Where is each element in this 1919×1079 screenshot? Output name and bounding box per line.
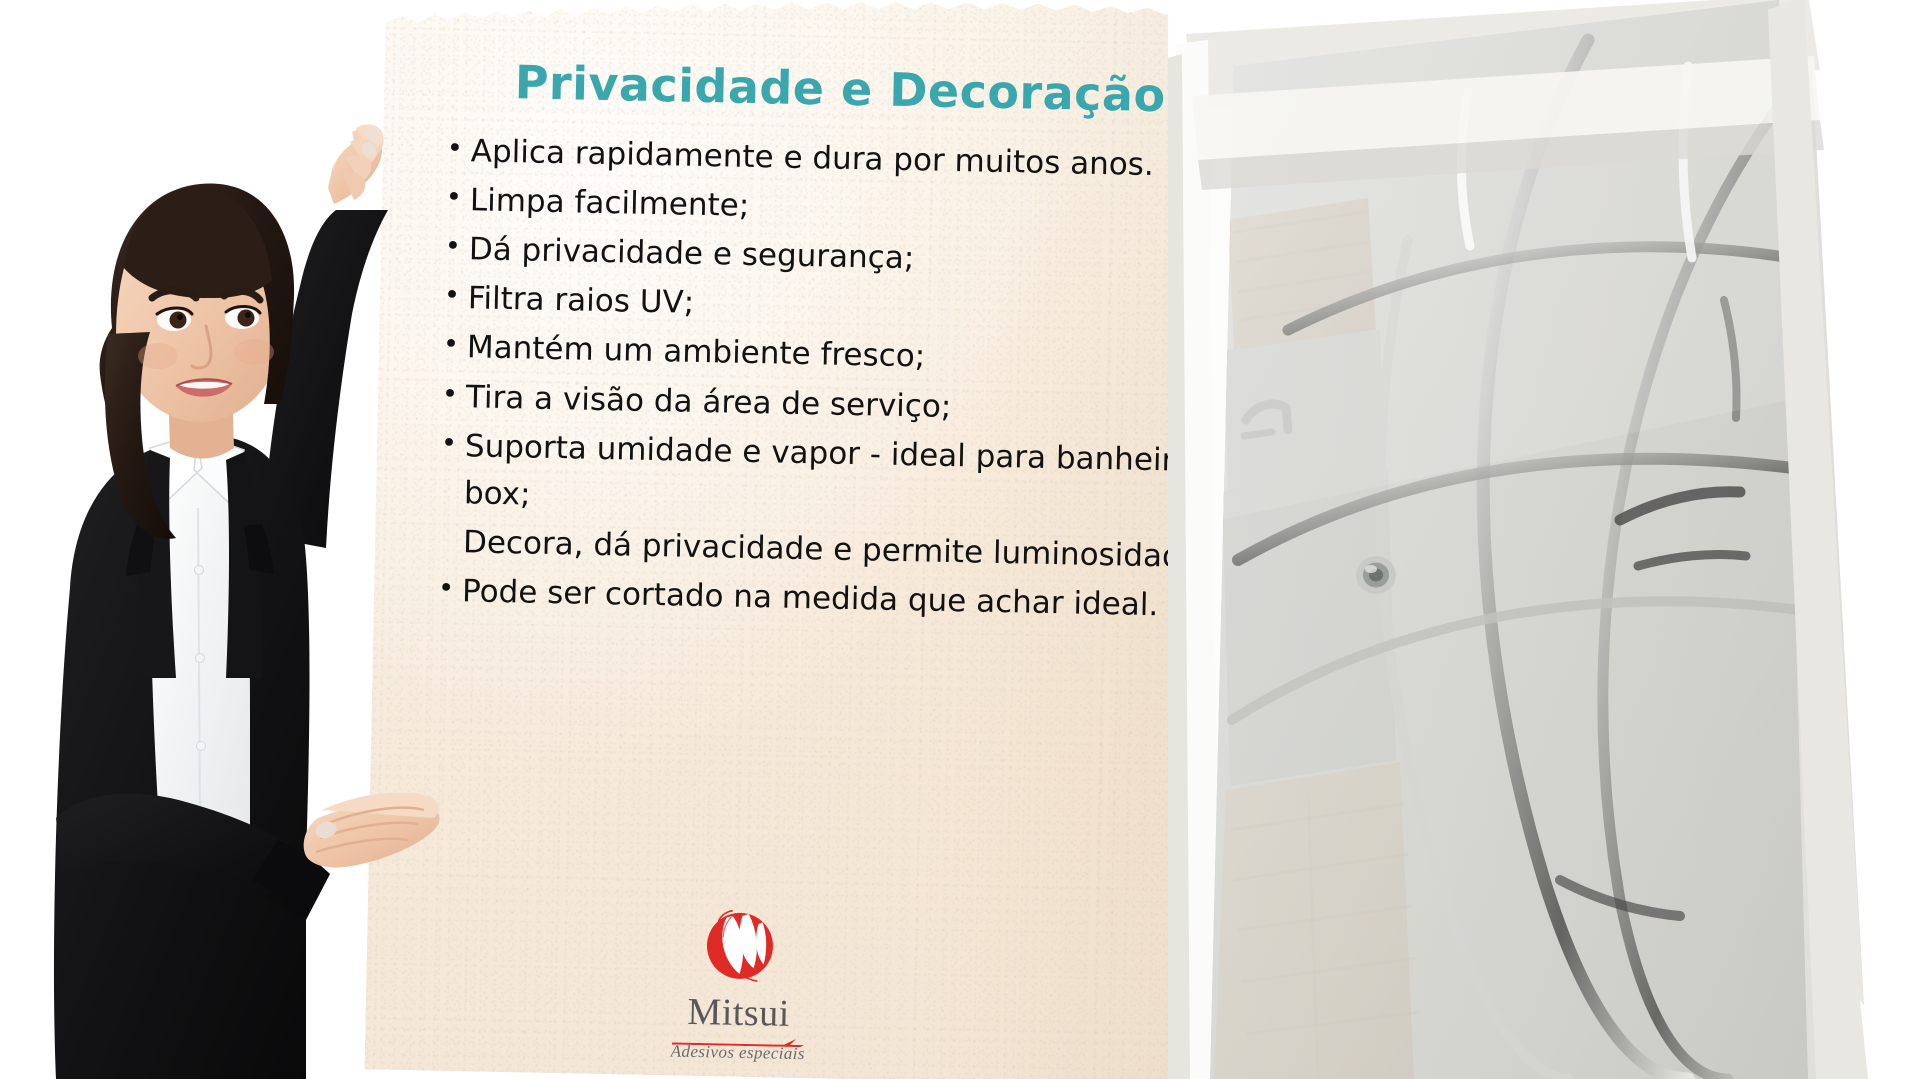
brand-wordmark: Mitsui (633, 992, 844, 1034)
mitsui-leaf-circle-icon (695, 907, 785, 993)
list-item: • Suporta umidade e vapor - ideal para b… (440, 422, 1242, 532)
door-handle-icon (1356, 556, 1396, 594)
product-photo (1168, 0, 1919, 1079)
poster-canvas: Privacidade e Decoração • Aplica rapidam… (0, 0, 1919, 1079)
frosted-glass-door-illustration (1168, 0, 1919, 1079)
brand-logo: Mitsui Adesivos especiais (633, 906, 846, 1065)
page-title: Privacidade e Decoração (384, 53, 1297, 125)
logo-swoosh (672, 1032, 804, 1043)
benefits-list: • Aplica rapidamente e dura por muitos a… (438, 128, 1248, 633)
list-item-text: Suporta umidade e vapor - ideal para ban… (464, 423, 1242, 533)
presenter-photo (0, 118, 470, 1079)
businesswoman-illustration (0, 118, 470, 1079)
